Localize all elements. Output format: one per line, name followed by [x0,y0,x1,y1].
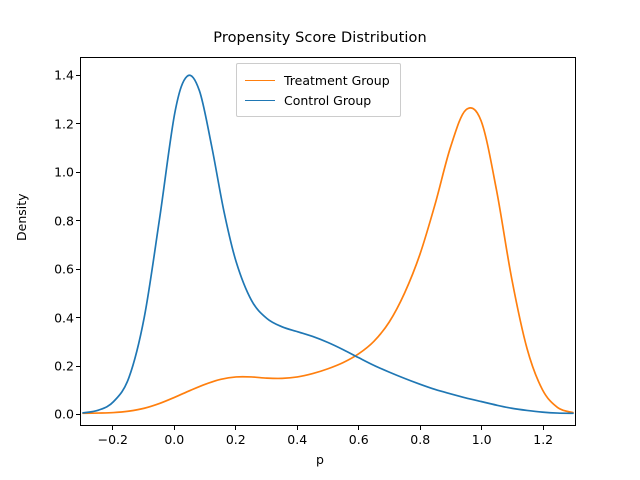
x-tick-mark [235,426,236,430]
y-tick-mark [76,317,80,318]
y-tick-label: 1.2 [34,116,74,131]
y-tick-label: 0.6 [34,262,74,277]
y-tick-label: 1.4 [34,68,74,83]
series-line-control-group [83,75,573,413]
x-tick-label: 0.6 [349,432,369,447]
x-tick-mark [297,426,298,430]
x-tick-mark [358,426,359,430]
y-tick-mark [76,220,80,221]
y-axis-label: Density [14,193,29,241]
x-tick-label: 0.8 [410,432,430,447]
x-tick-label: −0.2 [98,432,128,447]
x-tick-label: 0.4 [287,432,307,447]
y-tick-mark [76,75,80,76]
x-tick-mark [543,426,544,430]
legend-label: Treatment Group [284,73,390,88]
x-tick-label: 1.2 [533,432,553,447]
y-tick-label: 0.4 [34,310,74,325]
x-tick-label: 1.0 [472,432,492,447]
series-group [83,75,573,413]
x-tick-mark [112,426,113,430]
legend-label: Control Group [284,93,371,108]
legend-entry: Control Group [245,90,390,110]
x-axis-label: p [0,452,640,467]
y-tick-label: 0.8 [34,213,74,228]
chart-legend: Treatment GroupControl Group [236,63,401,117]
x-tick-mark [174,426,175,430]
chart-title: Propensity Score Distribution [0,30,640,46]
y-tick-label: 0.2 [34,359,74,374]
y-tick-label: 0.0 [34,407,74,422]
y-tick-mark [76,269,80,270]
y-tick-mark [76,414,80,415]
legend-line-swatch [245,100,275,101]
y-tick-mark [76,123,80,124]
x-tick-mark [420,426,421,430]
series-line-treatment-group [83,108,573,413]
y-tick-mark [76,172,80,173]
chart-figure: Propensity Score Distribution −0.20.00.2… [0,0,640,480]
legend-line-swatch [245,80,275,81]
x-tick-mark [481,426,482,430]
legend-entry: Treatment Group [245,70,390,90]
y-tick-label: 1.0 [34,165,74,180]
x-tick-label: 0.0 [164,432,184,447]
x-tick-label: 0.2 [226,432,246,447]
y-tick-mark [76,366,80,367]
